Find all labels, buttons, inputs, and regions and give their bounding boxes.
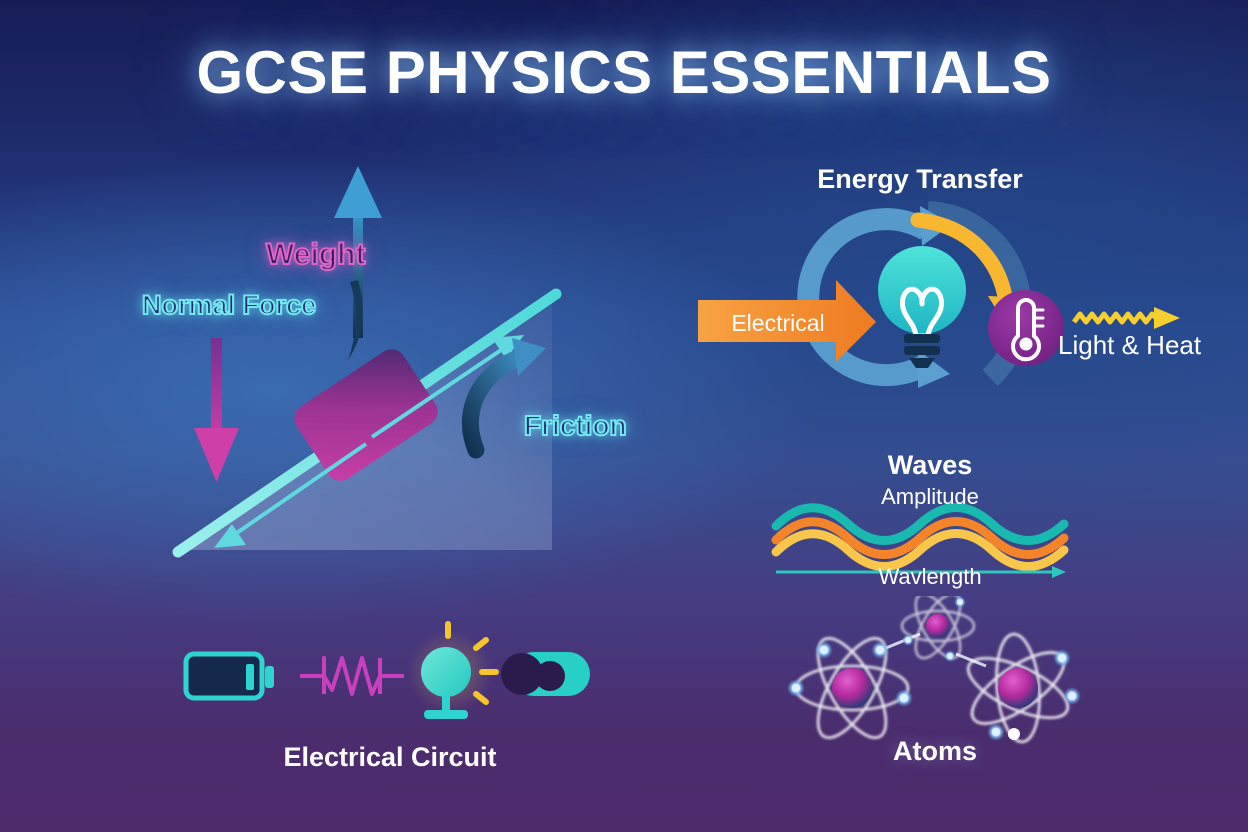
atoms-title: Atoms: [760, 736, 1110, 767]
label-wavelength: Wavlength: [760, 564, 1100, 590]
resistor-icon: [300, 658, 404, 694]
down-arrow-icon: [194, 338, 239, 482]
waves-title: Waves: [760, 450, 1100, 481]
infographic-canvas: GCSE PHYSICS ESSENTIALS: [0, 0, 1248, 832]
electrical-circuit-diagram: Electrical Circuit: [160, 620, 620, 790]
wave-icon: [776, 508, 1064, 567]
battery-icon: [186, 654, 274, 698]
label-normal-force: Normal Force: [142, 290, 316, 321]
energy-transfer-diagram: Energy Transfer Electrical Light & Heat: [660, 150, 1240, 410]
thermometer-icon: [988, 290, 1064, 366]
lightbulb-icon: [878, 246, 966, 368]
atom-icon: [787, 629, 913, 748]
energy-input-label: Electrical: [708, 310, 848, 337]
label-amplitude: Amplitude: [760, 484, 1100, 510]
label-friction: Friction: [524, 410, 627, 442]
label-weight: Weight: [266, 238, 365, 272]
switch-icon: [501, 652, 590, 696]
atom-icon: [902, 596, 974, 665]
atom-icon: [960, 632, 1081, 743]
energy-transfer-title: Energy Transfer: [660, 164, 1180, 195]
atoms-diagram: Atoms: [760, 596, 1110, 796]
page-title: GCSE PHYSICS ESSENTIALS: [0, 38, 1248, 107]
circuit-title: Electrical Circuit: [160, 742, 620, 773]
incline-plane-diagram: Normal Force Weight Friction: [120, 160, 680, 580]
energy-output-label: Light & Heat: [1058, 330, 1201, 361]
waves-diagram: Waves Amplitude Wavlength: [760, 440, 1110, 600]
lamp-icon: [408, 624, 496, 719]
zigzag-arrow-icon: [1074, 307, 1180, 329]
